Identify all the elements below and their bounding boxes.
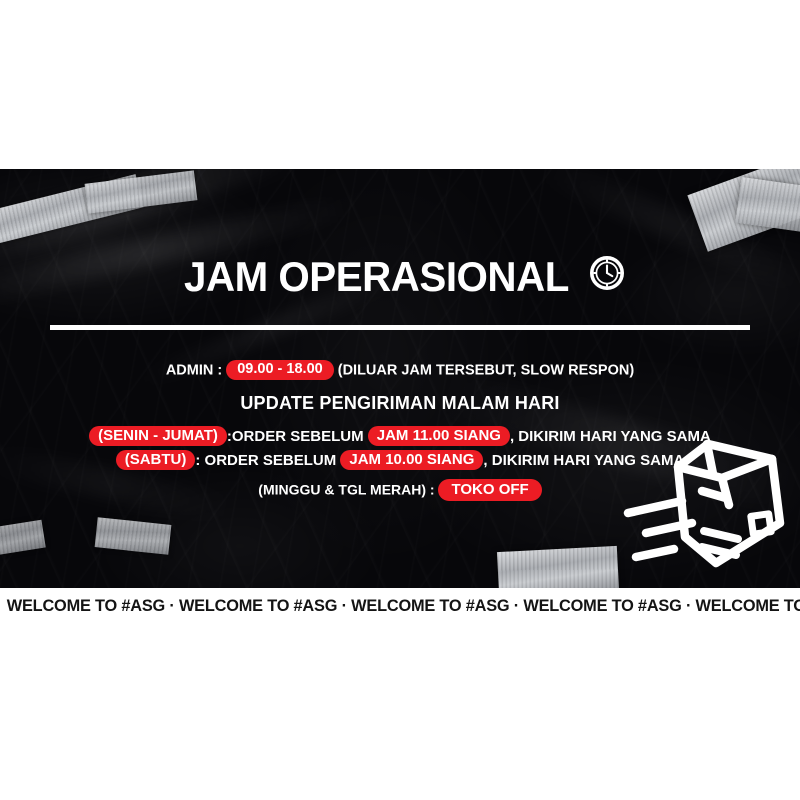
- packing-tape-strip: [0, 174, 144, 246]
- weekday-post-text: , DIKIRIM HARI YANG SAMA: [510, 428, 711, 445]
- saturday-days-badge: (SABTU): [116, 450, 196, 470]
- update-heading: UPDATE PENGIRIMAN MALAM HARI: [0, 394, 800, 413]
- saturday-schedule-line: (SABTU): ORDER SEBELUM JAM 10.00 SIANG, …: [0, 451, 800, 471]
- packing-tape-strip: [687, 169, 800, 252]
- page-title: JAM OPERASIONAL: [184, 253, 569, 301]
- packing-tape-strip: [735, 177, 800, 235]
- weekday-cutoff-badge: JAM 11.00 SIANG: [368, 426, 510, 446]
- packing-tape-strip: [497, 546, 619, 588]
- welcome-marquee-bar: WELCOME TO #ASG · WELCOME TO #ASG · WELC…: [0, 588, 800, 625]
- operating-hours-banner: JAM OPERASIONAL: [0, 169, 800, 588]
- title-divider: [50, 325, 750, 330]
- saturday-post-text: , DIKIRIM HARI YANG SAMA: [483, 452, 684, 469]
- packing-tape-strip: [85, 170, 198, 213]
- plastic-sheen-streak: [0, 169, 298, 266]
- weekday-pre-text: :ORDER SEBELUM: [227, 428, 364, 445]
- marquee-text: WELCOME TO #ASG · WELCOME TO #ASG · WELC…: [5, 597, 800, 616]
- admin-hours-badge: 09.00 - 18.00: [226, 360, 333, 380]
- packing-tape-strip: [0, 520, 46, 559]
- clock-icon: [590, 256, 624, 295]
- saturday-pre-text: : ORDER SEBELUM: [195, 452, 336, 469]
- weekday-schedule-line: (SENIN - JUMAT):ORDER SEBELUM JAM 11.00 …: [0, 427, 800, 447]
- admin-note: (DILUAR JAM TERSEBUT, SLOW RESPON): [338, 363, 634, 379]
- admin-hours-line: ADMIN : 09.00 - 18.00 (DILUAR JAM TERSEB…: [0, 361, 800, 381]
- closed-days-line: (MINGGU & TGL MERAH) : TOKO OFF: [0, 480, 800, 502]
- banner-title-row: JAM OPERASIONAL: [0, 253, 800, 301]
- saturday-cutoff-badge: JAM 10.00 SIANG: [340, 450, 483, 470]
- toko-off-badge: TOKO OFF: [438, 479, 541, 501]
- closed-days-label: (MINGGU & TGL MERAH) :: [258, 482, 434, 498]
- admin-label: ADMIN :: [166, 363, 222, 379]
- packing-tape-strip: [95, 517, 172, 555]
- schedule-text-block: ADMIN : 09.00 - 18.00 (DILUAR JAM TERSEB…: [0, 361, 800, 502]
- page-root: JAM OPERASIONAL: [0, 0, 800, 800]
- weekday-days-badge: (SENIN - JUMAT): [89, 426, 227, 446]
